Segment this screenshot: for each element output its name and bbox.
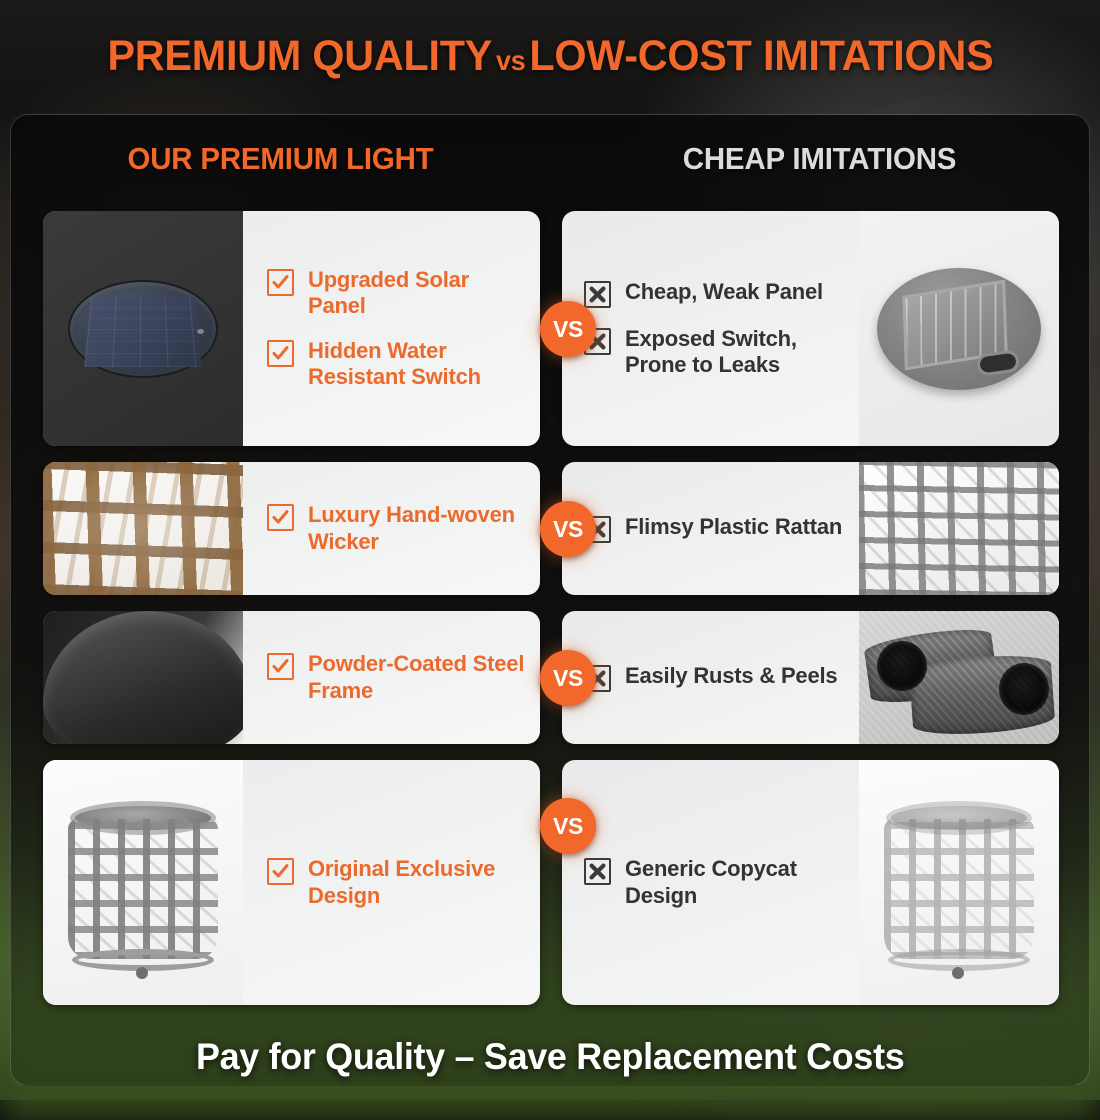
footer-tagline: Pay for Quality – Save Replacement Costs	[196, 1036, 904, 1078]
footer-band: Pay for Quality – Save Replacement Costs	[0, 1036, 1100, 1078]
comparison-panel: OUR PREMIUM LIGHT CHEAP IMITATIONS	[10, 114, 1090, 1086]
premium-card-solar[interactable]: Upgraded Solar Panel Hidden Water Resist…	[43, 211, 540, 446]
handwoven-wicker-photo	[43, 462, 243, 595]
feature-item: Luxury Hand-woven Wicker	[267, 502, 526, 555]
title-band: PREMIUM QUALITYvsLOW-COST IMITATIONS	[0, 0, 1100, 112]
table-weave-shape	[884, 819, 1034, 959]
feature-item: Generic Copycat Design	[584, 856, 845, 909]
feature-item: Upgraded Solar Panel	[267, 267, 526, 320]
feature-label: Easily Rusts & Peels	[625, 663, 837, 689]
vs-badge: VS	[540, 650, 596, 706]
feature-label: Generic Copycat Design	[625, 856, 845, 909]
feature-label: Original Exclusive Design	[308, 856, 526, 909]
premium-card-solar-text: Upgraded Solar Panel Hidden Water Resist…	[243, 211, 540, 446]
imitation-card-solar-text: Cheap, Weak Panel Exposed Switch, Prone …	[562, 211, 859, 446]
title-part-premium: PREMIUM QUALITY	[107, 32, 492, 80]
column-header-theirs: CHEAP IMITATIONS	[563, 141, 1075, 177]
cross-box-icon	[584, 281, 611, 308]
feature-item: Exposed Switch, Prone to Leaks	[584, 326, 845, 379]
cheap-solar-disc-photo	[859, 211, 1059, 446]
feature-item: Powder-Coated Steel Frame	[267, 651, 526, 704]
imitation-card-rattan-text: Flimsy Plastic Rattan	[562, 462, 859, 595]
feature-item: Easily Rusts & Peels	[584, 663, 845, 692]
feature-label: Flimsy Plastic Rattan	[625, 514, 842, 540]
woven-table-shape	[68, 799, 218, 967]
imitation-card-design-text: Generic Copycat Design	[562, 760, 859, 1005]
comparison-row: Powder-Coated Steel Frame VS Easily Rust…	[43, 611, 1059, 744]
solar-disc-shape	[877, 268, 1041, 390]
comparison-rows: Upgraded Solar Panel Hidden Water Resist…	[43, 211, 1059, 1021]
plastic-rattan-photo	[859, 462, 1059, 595]
title-vs-word: vs	[496, 45, 526, 76]
rust-texture-overlay	[859, 611, 1059, 744]
rattan-weave-shape	[859, 462, 1059, 595]
imitation-card-rust[interactable]: Easily Rusts & Peels	[562, 611, 1059, 744]
comparison-row: Original Exclusive Design VS Generic Cop…	[43, 760, 1059, 1005]
upgraded-solar-panel-photo	[43, 211, 243, 446]
premium-card-wicker-text: Luxury Hand-woven Wicker	[243, 462, 540, 595]
column-headers: OUR PREMIUM LIGHT CHEAP IMITATIONS	[11, 141, 1089, 177]
imitation-card-design[interactable]: Generic Copycat Design	[562, 760, 1059, 1005]
premium-card-wicker[interactable]: Luxury Hand-woven Wicker	[43, 462, 540, 595]
check-box-icon	[267, 269, 294, 296]
wicker-weave-shape	[43, 462, 243, 595]
solar-oval-shape	[68, 280, 218, 378]
title-part-imitations: LOW-COST IMITATIONS	[529, 32, 993, 80]
premium-card-design[interactable]: Original Exclusive Design	[43, 760, 540, 1005]
feature-item: Cheap, Weak Panel	[584, 279, 845, 308]
vs-badge: VS	[540, 501, 596, 557]
original-design-table-photo	[43, 760, 243, 1005]
check-box-icon	[267, 858, 294, 885]
feature-item: Flimsy Plastic Rattan	[584, 514, 845, 543]
vs-badge: VS	[540, 798, 596, 854]
feature-label: Cheap, Weak Panel	[625, 279, 823, 305]
solar-sensor-dot	[197, 329, 204, 334]
table-weave-shape	[68, 819, 218, 959]
check-box-icon	[267, 340, 294, 367]
imitation-card-rattan[interactable]: Flimsy Plastic Rattan	[562, 462, 1059, 595]
feature-label: Exposed Switch, Prone to Leaks	[625, 326, 845, 379]
copycat-table-shape	[884, 799, 1034, 967]
check-box-icon	[267, 653, 294, 680]
comparison-row: Luxury Hand-woven Wicker VS Flimsy Plast…	[43, 462, 1059, 595]
feature-label: Luxury Hand-woven Wicker	[308, 502, 526, 555]
feature-label: Powder-Coated Steel Frame	[308, 651, 526, 704]
feature-label: Upgraded Solar Panel	[308, 267, 526, 320]
vs-badge: VS	[540, 301, 596, 357]
comparison-row: Upgraded Solar Panel Hidden Water Resist…	[43, 211, 1059, 446]
copycat-design-table-photo	[859, 760, 1059, 1005]
imitation-card-rust-text: Easily Rusts & Peels	[562, 611, 859, 744]
check-box-icon	[267, 504, 294, 531]
column-header-ours: OUR PREMIUM LIGHT	[24, 141, 536, 177]
premium-card-design-text: Original Exclusive Design	[243, 760, 540, 1005]
imitation-card-solar[interactable]: Cheap, Weak Panel Exposed Switch, Prone …	[562, 211, 1059, 446]
solar-cell-shape	[84, 297, 201, 366]
feature-item: Hidden Water Resistant Switch	[267, 338, 526, 391]
page-title: PREMIUM QUALITYvsLOW-COST IMITATIONS	[107, 32, 993, 81]
premium-card-steel[interactable]: Powder-Coated Steel Frame	[43, 611, 540, 744]
table-foot-shape	[136, 967, 148, 979]
feature-item: Original Exclusive Design	[267, 856, 526, 909]
table-foot-shape	[952, 967, 964, 979]
premium-card-steel-text: Powder-Coated Steel Frame	[243, 611, 540, 744]
steel-body-shape	[43, 611, 243, 744]
feature-label: Hidden Water Resistant Switch	[308, 338, 526, 391]
cross-box-icon	[584, 858, 611, 885]
rusted-pipes-photo	[859, 611, 1059, 744]
powder-coated-steel-photo	[43, 611, 243, 744]
